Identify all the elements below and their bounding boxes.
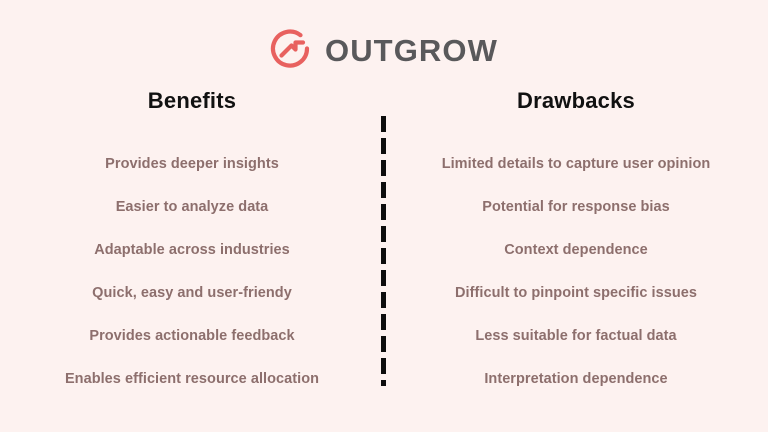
brand-header: OUTGROW (0, 24, 768, 76)
dashed-divider (381, 116, 386, 386)
benefits-list: Provides deeper insights Easier to analy… (0, 142, 384, 400)
benefits-title: Benefits (148, 84, 236, 116)
list-item: Interpretation dependence (384, 357, 768, 400)
brand-wordmark: OUTGROW (325, 35, 498, 66)
list-item: Limited details to capture user opinion (384, 142, 768, 185)
outgrow-logo-icon (270, 29, 312, 71)
benefits-column: Benefits Provides deeper insights Easier… (0, 84, 384, 400)
list-item: Adaptable across industries (0, 228, 384, 271)
list-item: Potential for response bias (384, 185, 768, 228)
list-item: Context dependence (384, 228, 768, 271)
drawbacks-title: Drawbacks (517, 84, 635, 116)
list-item: Easier to analyze data (0, 185, 384, 228)
drawbacks-list: Limited details to capture user opinion … (384, 142, 768, 400)
drawbacks-column: Drawbacks Limited details to capture use… (384, 84, 768, 400)
list-item: Provides actionable feedback (0, 314, 384, 357)
list-item: Enables efficient resource allocation (0, 357, 384, 400)
list-item: Quick, easy and user-friendy (0, 271, 384, 314)
comparison-slide: OUTGROW Benefits Provides deeper insight… (0, 0, 768, 432)
outgrow-circle-arrow-icon (270, 29, 312, 71)
list-item: Provides deeper insights (0, 142, 384, 185)
list-item: Difficult to pinpoint specific issues (384, 271, 768, 314)
list-item: Less suitable for factual data (384, 314, 768, 357)
